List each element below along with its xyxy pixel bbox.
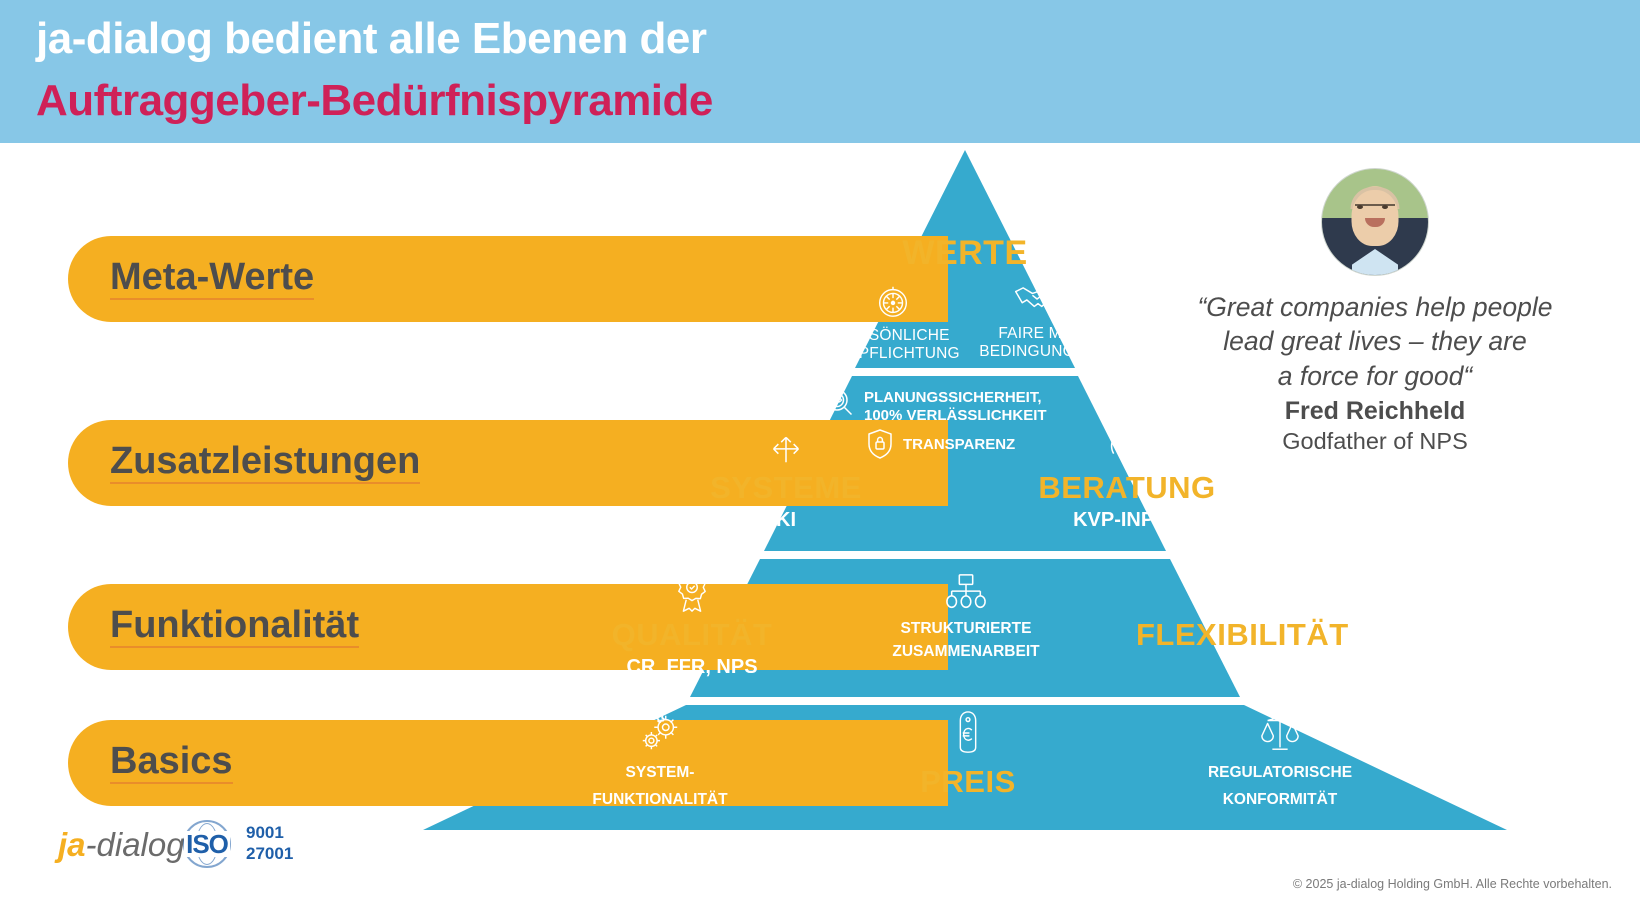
iso-globe-icon: ISO <box>176 822 238 866</box>
column-subtitle: KI <box>700 509 872 531</box>
header-title-line2: Auftraggeber-Bedürfnispyramide <box>36 76 713 126</box>
quote-role: Godfather of NPS <box>1140 428 1610 455</box>
column-systeme: SYSTEME KI <box>700 425 872 531</box>
three-way-arrow-icon <box>700 425 872 467</box>
scales-icon <box>1180 712 1380 754</box>
column-label-line2: ZUSAMMENARBEIT <box>882 643 1050 660</box>
column-flexibilitaet: FLEXIBILITÄT <box>1136 572 1316 650</box>
column-label-line1: STRUKTURIERTE <box>882 620 1050 637</box>
logo-prefix: ja <box>58 826 86 863</box>
level-label: Basics <box>110 742 233 784</box>
gears-icon <box>570 712 750 754</box>
compass-icon <box>808 280 978 322</box>
level-label: Zusatzleistungen <box>110 442 420 484</box>
iso-number-27001: 27001 <box>246 844 293 865</box>
column-system-funktionalitaet: SYSTEM- FUNKTIONALITÄT <box>570 712 750 809</box>
header-title-line1: ja-dialog bedient alle Ebenen der <box>36 14 707 64</box>
quality-seal-icon <box>600 572 784 614</box>
column-title: QUALITÄT <box>600 619 784 650</box>
level-bar-funktionalitaet[interactable]: Funktionalität <box>68 584 948 670</box>
quote-line3: a force for good“ <box>1140 359 1610 393</box>
column-title: PREIS <box>888 766 1048 797</box>
avatar-shirt <box>1352 249 1398 275</box>
quote-text: “Great companies help people lead great … <box>1140 290 1610 393</box>
note-line1: TRANSPARENZ <box>903 436 1015 453</box>
feature-label-line1: FAIRE MA- <box>968 325 1108 343</box>
resize-arrow-icon <box>1136 572 1316 614</box>
feature-label-line1: PERSÖNLICHE <box>808 327 978 345</box>
level-bar-basics[interactable]: Basics <box>68 720 948 806</box>
quote-line2: lead great lives – they are <box>1140 324 1610 358</box>
column-label-line1: SYSTEM- <box>570 764 750 781</box>
tier-title-text: WERTE <box>880 236 1050 270</box>
column-label-line2: KONFORMITÄT <box>1180 791 1380 808</box>
quote-block: “Great companies help people lead great … <box>1140 168 1610 455</box>
copyright-text: © 2025 ja-dialog Holding GmbH. Alle Rech… <box>1293 877 1612 891</box>
header-band: ja-dialog bedient alle Ebenen der Auftra… <box>0 0 1640 143</box>
logo-suffix: -dialog <box>86 826 185 863</box>
note-line2: 100% VERLÄSSLICHKEIT <box>864 407 1047 424</box>
price-tag-euro-icon <box>888 712 1048 754</box>
column-label-line2: FUNKTIONALITÄT <box>570 791 750 808</box>
feature-persoenliche-verpflichtung: PERSÖNLICHE VERPFLICHTUNG <box>808 280 978 362</box>
quote-line1: “Great companies help people <box>1140 290 1610 324</box>
quote-author: Fred Reichheld <box>1140 397 1610 426</box>
iso-standards: 9001 27001 <box>246 823 293 864</box>
column-preis: PREIS <box>888 712 1048 797</box>
feature-faire-ma-bedingungen: FAIRE MA- BEDINGUNGEN <box>968 278 1108 360</box>
note-line1: PLANUNGSSICHERHEIT, <box>864 389 1042 406</box>
iso-number-9001: 9001 <box>246 823 293 844</box>
infographic-canvas: ja-dialog bedient alle Ebenen der Auftra… <box>0 0 1640 917</box>
handshake-icon <box>968 278 1108 320</box>
avatar <box>1321 168 1429 276</box>
level-label: Meta-Werte <box>110 258 314 300</box>
column-label-line1: REGULATORISCHE <box>1180 764 1380 781</box>
iso-badge: ISO 9001 27001 <box>176 822 293 866</box>
column-regulatorische-konformitaet: REGULATORISCHE KONFORMITÄT <box>1180 712 1380 809</box>
feature-label-line2: VERPFLICHTUNG <box>808 345 978 363</box>
note-planungssicherheit: PLANUNGSSICHERHEIT, 100% VERLÄSSLICHKEIT <box>822 386 1082 424</box>
column-subtitle: CR, FFR, NPS <box>600 656 784 678</box>
column-strukturierte-zusammenarbeit: STRUKTURIERTE ZUSAMMENARBEIT <box>882 572 1050 661</box>
column-title: FLEXIBILITÄT <box>1136 619 1316 650</box>
level-label: Funktionalität <box>110 606 359 648</box>
column-title: BERATUNG <box>1032 472 1222 503</box>
tier-title-werte: WERTE <box>880 236 1050 270</box>
column-title: SYSTEME <box>700 472 872 503</box>
org-chart-icon <box>882 572 1050 614</box>
avatar-eye-left <box>1357 205 1363 209</box>
iso-label: ISO <box>184 831 230 857</box>
feature-label-line2: BEDINGUNGEN <box>968 343 1108 361</box>
column-qualitaet: QUALITÄT CR, FFR, NPS <box>600 572 784 678</box>
column-subtitle: KVP-INPUT <box>1032 509 1222 531</box>
note-text: PLANUNGSSICHERHEIT, 100% VERLÄSSLICHKEIT <box>864 386 1047 424</box>
magnifier-eye-icon <box>822 386 856 420</box>
ja-dialog-logo: ja-dialog <box>58 826 185 864</box>
